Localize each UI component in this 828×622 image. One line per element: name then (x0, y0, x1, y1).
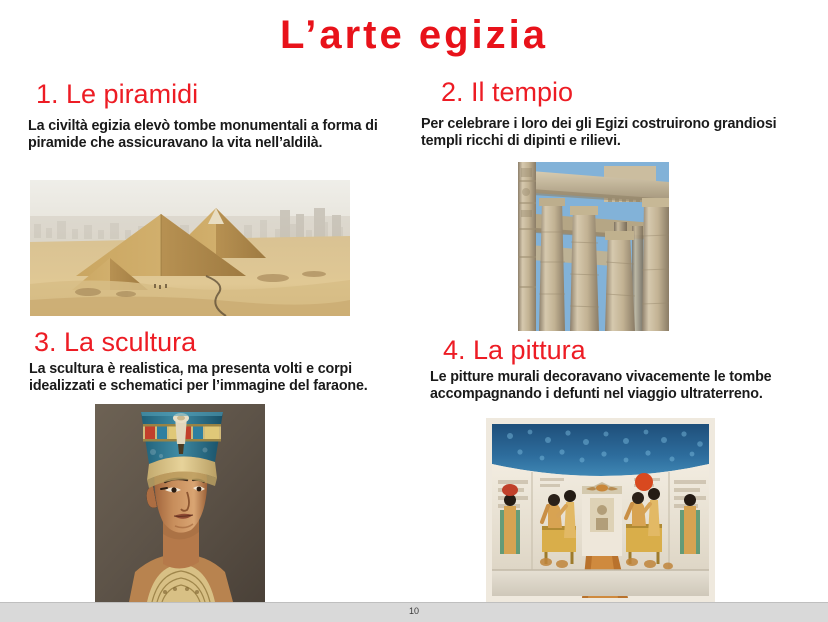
section-body-4: Le pitture murali decoravano vivacemente… (430, 369, 825, 404)
section-heading-4: 4. La pittura (443, 336, 586, 366)
pyramids-of-giza-photo (30, 180, 350, 316)
section-heading-2: 2. Il tempio (441, 78, 573, 108)
page-title: L’arte egizia (0, 14, 828, 56)
section-body-1: La civiltà egizia elevò tombe monumental… (28, 118, 418, 153)
section-heading-3: 3. La scultura (34, 328, 196, 358)
section-heading-1: 1. Le piramidi (36, 80, 198, 110)
section-body-2: Per celebrare i loro dei gli Egizi costr… (421, 116, 821, 151)
section-body-3: La scultura è realistica, ma presenta vo… (29, 361, 414, 396)
tomb-mural-painting-photo (486, 418, 715, 602)
slide-canvas: L’arte egizia 1. Le piramidi La civiltà … (0, 0, 828, 621)
slide-footer-bar: 10 (0, 602, 828, 622)
nefertiti-bust-photo (95, 404, 265, 602)
egyptian-temple-columns-photo (518, 162, 669, 331)
page-number: 10 (0, 606, 828, 616)
